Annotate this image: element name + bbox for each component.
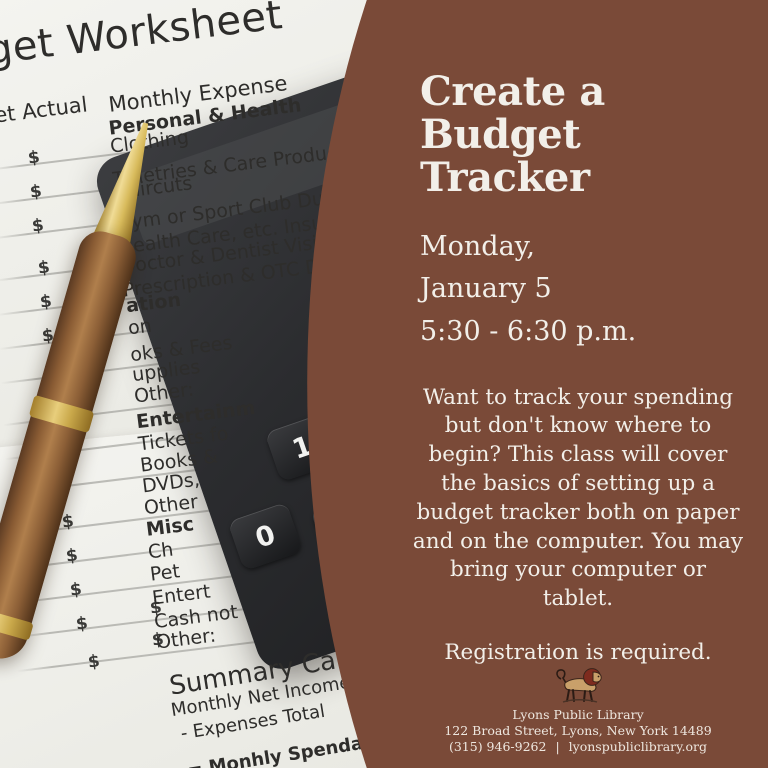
library-contact: (315) 946-9262 | lyonspubliclibrary.org	[408, 739, 748, 756]
event-title: Create a Budget Tracker	[420, 70, 748, 200]
event-description: Want to track your spending but don't kn…	[408, 384, 748, 614]
worksheet-item: on	[127, 315, 153, 340]
currency-symbol: $	[39, 291, 53, 312]
worksheet-item: Ch	[147, 539, 175, 564]
currency-symbol: $	[29, 181, 43, 202]
calculator-key-0: 0	[228, 502, 304, 571]
currency-symbol: $	[65, 545, 79, 566]
currency-symbol: $	[69, 579, 83, 600]
library-website[interactable]: lyonspubliclibrary.org	[569, 739, 707, 754]
footer: Lyons Public Library 122 Broad Street, L…	[408, 665, 748, 766]
event-day: Monday,	[420, 226, 748, 269]
registration-notice: Registration is required.	[408, 640, 748, 665]
event-title-line2: Tracker	[420, 156, 748, 199]
flyer-canvas: $ $ $ $ $ $ $ $ $ $ $ $ $ $ $ $ $ 4 1 0 …	[0, 0, 768, 768]
lion-logo-icon	[552, 665, 604, 705]
library-address: 122 Broad Street, Lyons, New York 14489	[408, 723, 748, 739]
currency-symbol: $	[61, 511, 75, 532]
event-date: January 5	[420, 268, 748, 311]
library-phone: (315) 946-9262	[449, 739, 546, 754]
event-title-line1: Create a Budget	[420, 70, 748, 156]
currency-symbol: $	[31, 215, 45, 236]
currency-symbol: $	[27, 147, 41, 168]
currency-symbol: $	[87, 651, 101, 672]
currency-symbol: $	[75, 613, 89, 634]
currency-symbol: $	[37, 257, 51, 278]
worksheet-item: Pet	[149, 560, 181, 585]
event-time: 5:30 - 6:30 p.m.	[420, 311, 748, 354]
event-datetime: Monday, January 5 5:30 - 6:30 p.m.	[420, 226, 748, 354]
contact-separator: |	[550, 739, 564, 754]
library-name: Lyons Public Library	[408, 707, 748, 723]
panel-content: Create a Budget Tracker Monday, January …	[388, 0, 768, 768]
